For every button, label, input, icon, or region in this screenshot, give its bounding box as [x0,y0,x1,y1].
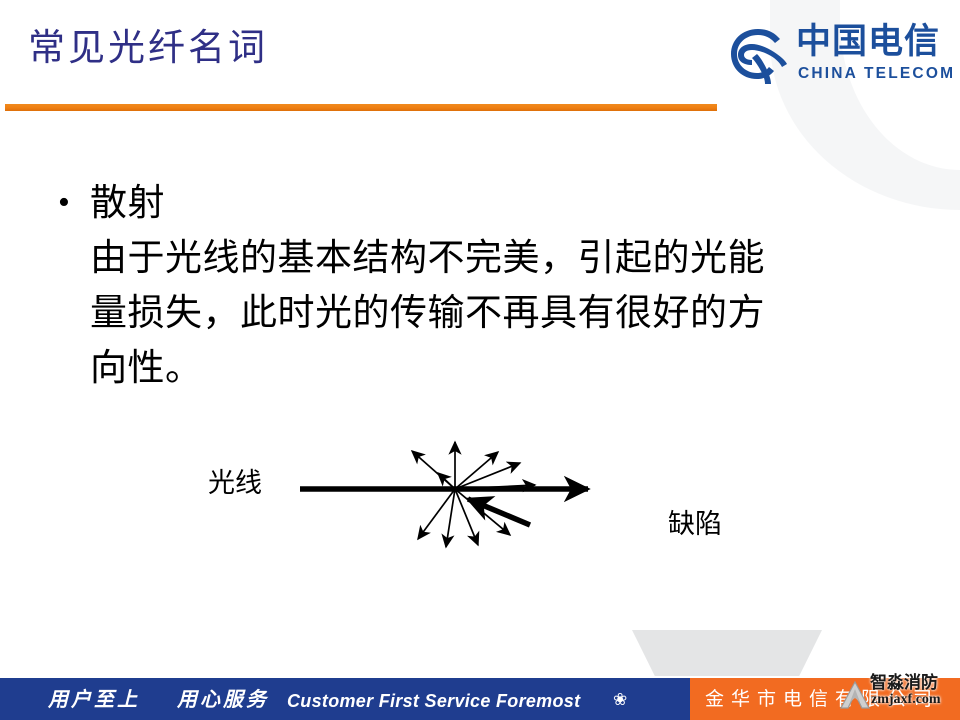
logo-text-cn: 中国电信 [796,22,940,62]
scattered-ray-down-right [455,489,478,545]
scattered-ray-group [412,442,535,547]
page-title: 常见光纤名词 [28,26,268,72]
footer-slogan-cn-1: 用户至上 [48,687,140,713]
title-underline-rule [5,104,717,111]
bullet-item: • 散射 由于光线的基本结构不完美，引起的光能 量损失，此时光的传输不再具有很好… [52,176,912,396]
body-line-1: 散射 [90,176,912,231]
background-trapezoid-shape [632,630,822,676]
footer-bar: 用户至上 用心服务 Customer First Service Foremos… [0,678,960,720]
scattered-ray-upright-shallow [455,463,520,489]
china-telecom-swirl-icon [728,24,790,86]
logo-text-en: CHINA TELECOM [798,65,955,83]
defect-callout-arrow [468,499,530,525]
china-telecom-logo: 中国电信 CHINA TELECOM [728,20,942,96]
slide-canvas: 常见光纤名词 中国电信 CHINA TELECOM • 散射 由于光线的基本结构… [0,0,960,720]
footer-company-name: 金华市电信有限公司 [705,687,939,713]
scattering-diagram-graphic [190,425,790,565]
body-line-3: 量损失，此时光的传输不再具有很好的方 [90,286,912,341]
footer-slogan-en: Customer First Service Foremost [287,689,580,713]
scattered-ray-downleft-steep [418,489,455,539]
body-line-2: 由于光线的基本结构不完美，引起的光能 [90,231,912,286]
content-body: • 散射 由于光线的基本结构不完美，引起的光能 量损失，此时光的传输不再具有很好… [52,176,912,396]
footer-divider-badge-icon: ❀ [613,690,627,710]
footer-slogan-cn-2: 用心服务 [177,687,269,713]
scattering-diagram: 光线 缺陷 [190,425,790,565]
bullet-marker: • [52,176,90,230]
scattered-ray-down-left [446,489,455,547]
scattered-ray-upright-steep [455,452,498,489]
body-line-4: 向性。 [90,341,912,396]
bullet-paragraph: 散射 由于光线的基本结构不完美，引起的光能 量损失，此时光的传输不再具有很好的方… [90,176,912,396]
